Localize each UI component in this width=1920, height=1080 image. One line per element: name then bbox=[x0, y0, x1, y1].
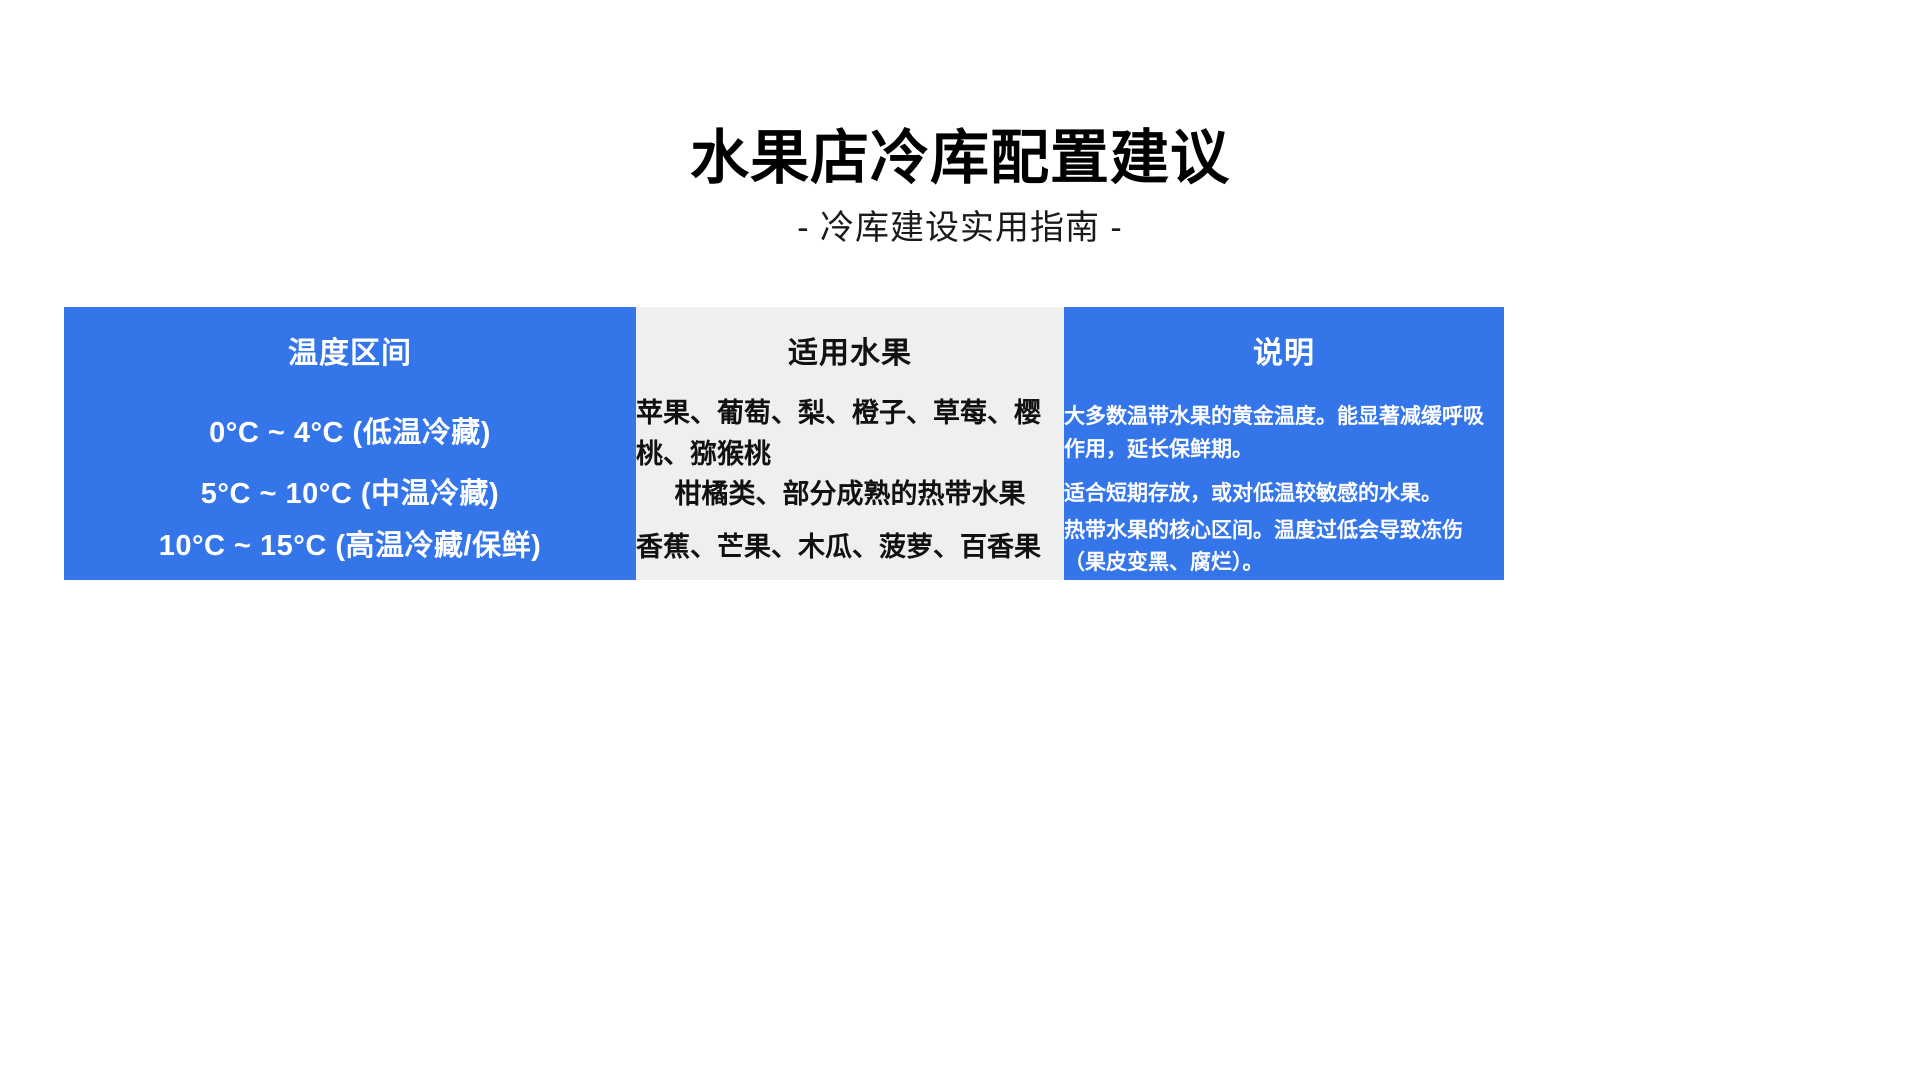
cell-suitable-fruits: 苹果、葡萄、梨、橙子、草莓、樱桃、猕猴桃 bbox=[636, 393, 1064, 474]
table-row: 0°C ~ 4°C (低温冷藏) 苹果、葡萄、梨、橙子、草莓、樱桃、猕猴桃 大多… bbox=[64, 393, 1504, 474]
table-body: 0°C ~ 4°C (低温冷藏) 苹果、葡萄、梨、橙子、草莓、樱桃、猕猴桃 大多… bbox=[64, 393, 1504, 580]
cell-description: 适合短期存放，或对低温较敏感的水果。 bbox=[1064, 474, 1504, 515]
slide-header: 水果店冷库配置建议 - 冷库建设实用指南 - bbox=[0, 128, 1920, 247]
cell-description: 热带水果的核心区间。温度过低会导致冻伤（果皮变黑、腐烂）。 bbox=[1064, 515, 1504, 580]
table-row: 5°C ~ 10°C (中温冷藏) 柑橘类、部分成熟的热带水果 适合短期存放，或… bbox=[64, 474, 1504, 515]
table-row: 10°C ~ 15°C (高温冷藏/保鲜) 香蕉、芒果、木瓜、菠萝、百香果 热带… bbox=[64, 515, 1504, 580]
slide-root: 水果店冷库配置建议 - 冷库建设实用指南 - 温度区间 适用水果 说明 0°C … bbox=[0, 0, 1920, 1080]
column-header-notes: 说明 bbox=[1064, 307, 1504, 393]
cell-temperature-range: 5°C ~ 10°C (中温冷藏) bbox=[64, 474, 636, 515]
cell-suitable-fruits: 柑橘类、部分成熟的热带水果 bbox=[636, 474, 1064, 515]
page-title: 水果店冷库配置建议 bbox=[0, 128, 1920, 190]
cold-storage-table: 温度区间 适用水果 说明 0°C ~ 4°C (低温冷藏) 苹果、葡萄、梨、橙子… bbox=[64, 307, 1504, 580]
table-header: 温度区间 适用水果 说明 bbox=[64, 307, 1504, 393]
cell-temperature-range: 0°C ~ 4°C (低温冷藏) bbox=[64, 393, 636, 474]
cell-description: 大多数温带水果的黄金温度。能显著减缓呼吸作用，延长保鲜期。 bbox=[1064, 393, 1504, 474]
cell-suitable-fruits: 香蕉、芒果、木瓜、菠萝、百香果 bbox=[636, 515, 1064, 580]
cold-storage-table-wrapper: 温度区间 适用水果 说明 0°C ~ 4°C (低温冷藏) 苹果、葡萄、梨、橙子… bbox=[64, 307, 1504, 580]
column-header-fruits: 适用水果 bbox=[636, 307, 1064, 393]
cell-temperature-range: 10°C ~ 15°C (高温冷藏/保鲜) bbox=[64, 515, 636, 580]
column-header-temperature: 温度区间 bbox=[64, 307, 636, 393]
table-header-row: 温度区间 适用水果 说明 bbox=[64, 307, 1504, 393]
page-subtitle: - 冷库建设实用指南 - bbox=[0, 190, 1920, 247]
